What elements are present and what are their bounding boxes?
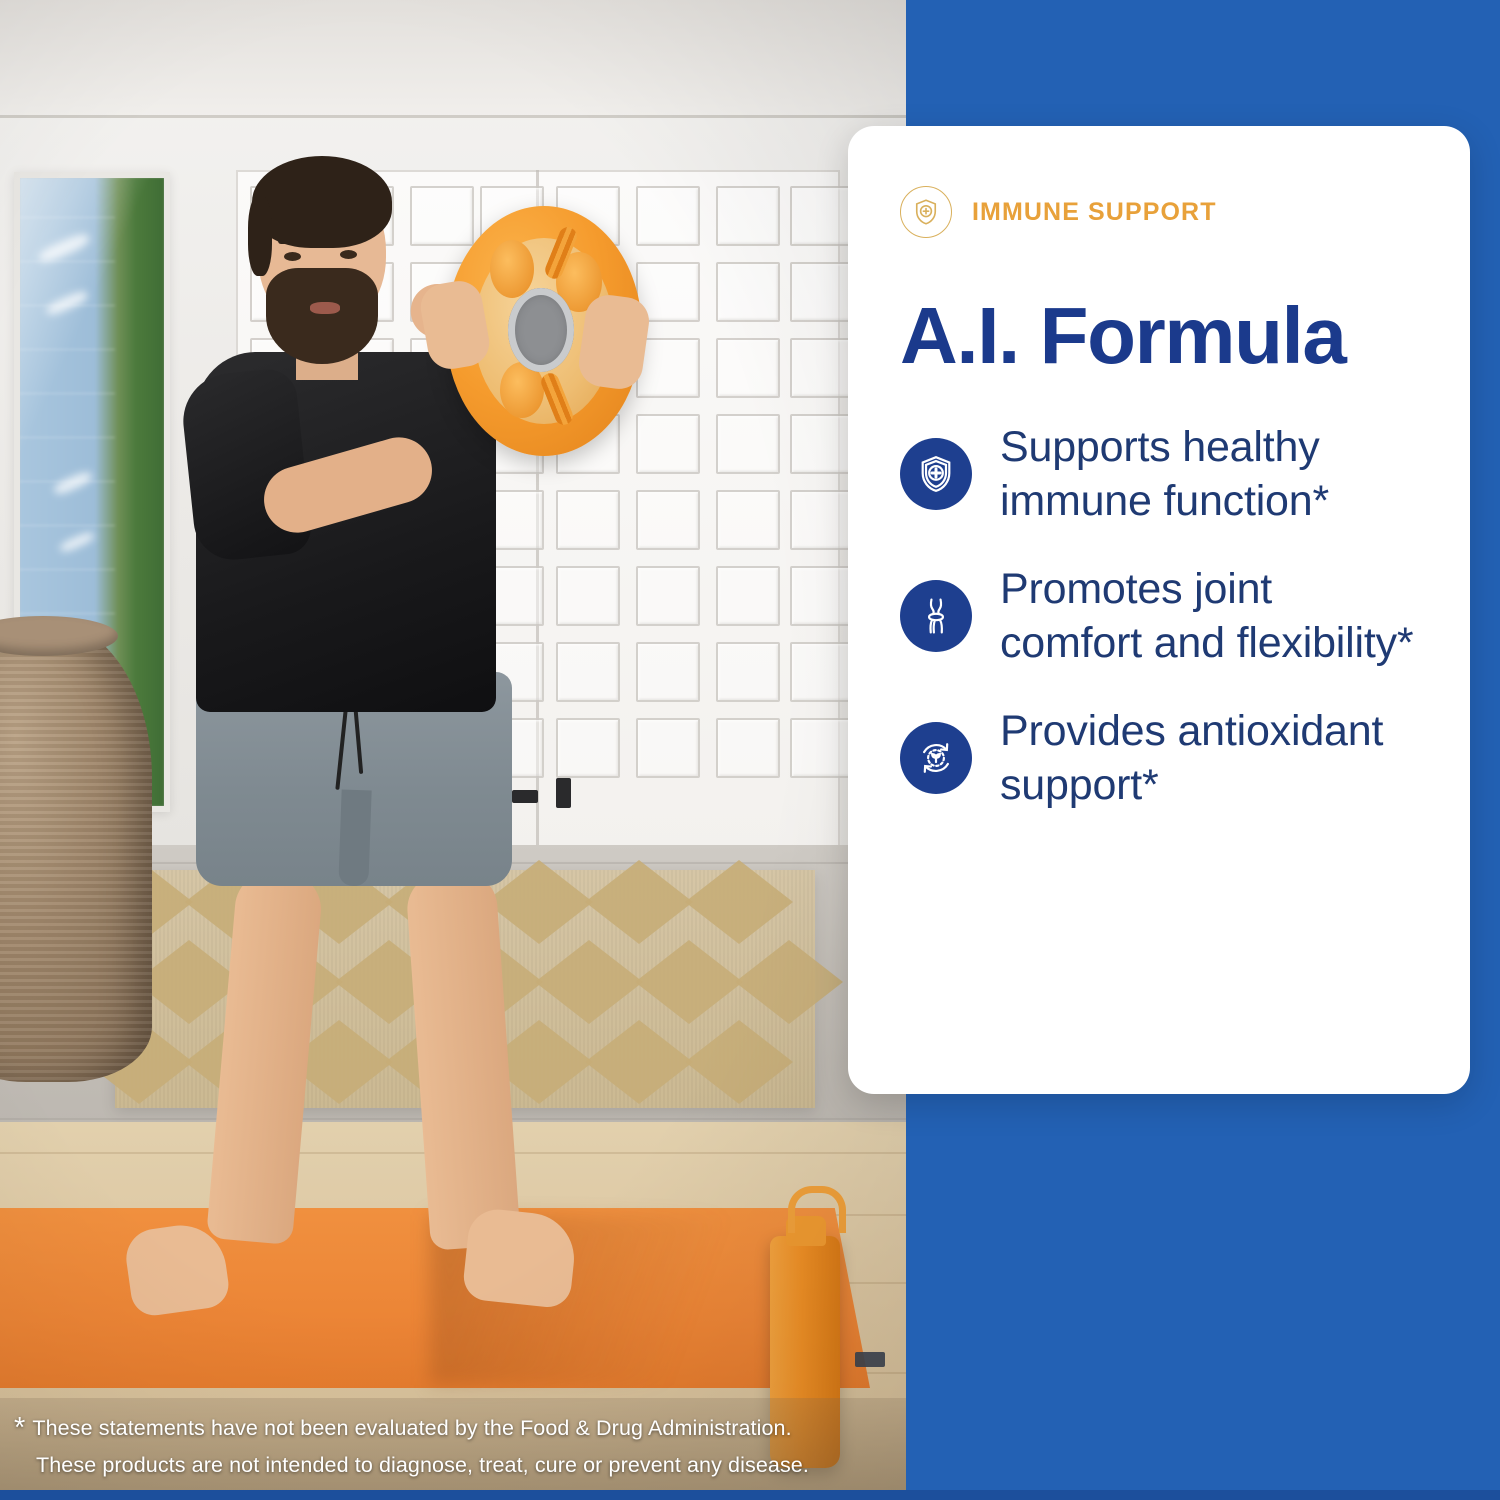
bottom-accent-strip	[0, 1490, 1500, 1500]
shield-cross-icon	[900, 438, 972, 510]
list-item: Promotes joint comfort and flexibility*	[900, 562, 1420, 670]
knee-joint-icon	[900, 580, 972, 652]
eyebrow-row: IMMUNE SUPPORT	[900, 186, 1420, 238]
benefit-list: Supports healthy immune function*	[900, 420, 1420, 812]
list-item-label: Supports healthy immune function*	[1000, 420, 1420, 528]
photo-vignette	[0, 0, 906, 1490]
list-item: Provides antioxidant support*	[900, 704, 1420, 812]
disclaimer-block: *These statements have not been evaluate…	[0, 1398, 906, 1490]
ad-canvas: *These statements have not been evaluate…	[0, 0, 1500, 1500]
eyebrow-label: IMMUNE SUPPORT	[972, 198, 1217, 227]
page-title: A.I. Formula	[900, 296, 1420, 376]
antioxidant-renew-icon	[900, 722, 972, 794]
list-item-label: Provides antioxidant support*	[1000, 704, 1420, 812]
list-item: Supports healthy immune function*	[900, 420, 1420, 528]
list-item-label: Promotes joint comfort and flexibility*	[1000, 562, 1420, 670]
disclaimer-line-2: These products are not intended to diagn…	[14, 1447, 809, 1484]
benefits-card: IMMUNE SUPPORT A.I. Formula Supports hea…	[848, 126, 1470, 1094]
shield-cross-icon	[900, 186, 952, 238]
product-lifestyle-photo: *These statements have not been evaluate…	[0, 0, 906, 1490]
disclaimer-asterisk: *	[14, 1412, 32, 1444]
disclaimer-line-1: These statements have not been evaluated…	[32, 1416, 791, 1440]
